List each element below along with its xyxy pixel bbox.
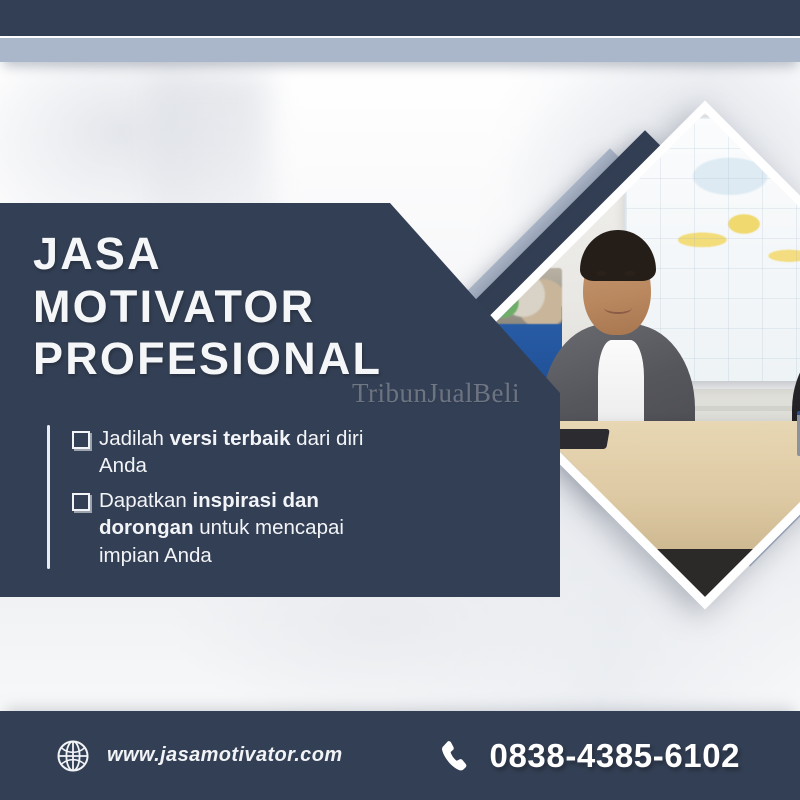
top-accent-bar xyxy=(0,38,800,62)
benefit-items: Jadilah versi terbaik dari diri AndaDapa… xyxy=(72,425,372,569)
website-text: www.jasamotivator.com xyxy=(107,744,343,767)
website-contact[interactable]: www.jasamotivator.com xyxy=(56,739,343,773)
phone-contact[interactable]: 0838-4385-6102 xyxy=(438,737,741,775)
list-accent-line xyxy=(47,425,50,569)
list-item: Jadilah versi terbaik dari diri Anda xyxy=(72,425,372,480)
square-bullet-icon xyxy=(72,493,90,511)
poster-canvas: JASA MOTIVATOR PROFESIONAL Jadilah versi… xyxy=(0,0,800,800)
square-bullet-icon xyxy=(72,431,90,449)
benefits-list: Jadilah versi terbaik dari diri AndaDapa… xyxy=(47,425,372,569)
page-title: JASA MOTIVATOR PROFESIONAL xyxy=(33,228,382,386)
globe-icon xyxy=(56,739,90,773)
list-item-text: Jadilah versi terbaik dari diri Anda xyxy=(99,425,372,480)
list-item: Dapatkan inspirasi dan dorongan untuk me… xyxy=(72,487,372,569)
headline-line-3: PROFESIONAL xyxy=(33,333,382,386)
phone-icon xyxy=(438,738,474,774)
headline-line-2: MOTIVATOR xyxy=(33,281,382,334)
phone-text: 0838-4385-6102 xyxy=(490,737,741,775)
headline-line-1: JASA xyxy=(33,228,382,281)
person-left-smile xyxy=(604,301,632,313)
top-navy-bar xyxy=(0,0,800,36)
contact-footer: www.jasamotivator.com 0838-4385-6102 xyxy=(0,711,800,800)
list-item-text: Dapatkan inspirasi dan dorongan untuk me… xyxy=(99,487,372,569)
